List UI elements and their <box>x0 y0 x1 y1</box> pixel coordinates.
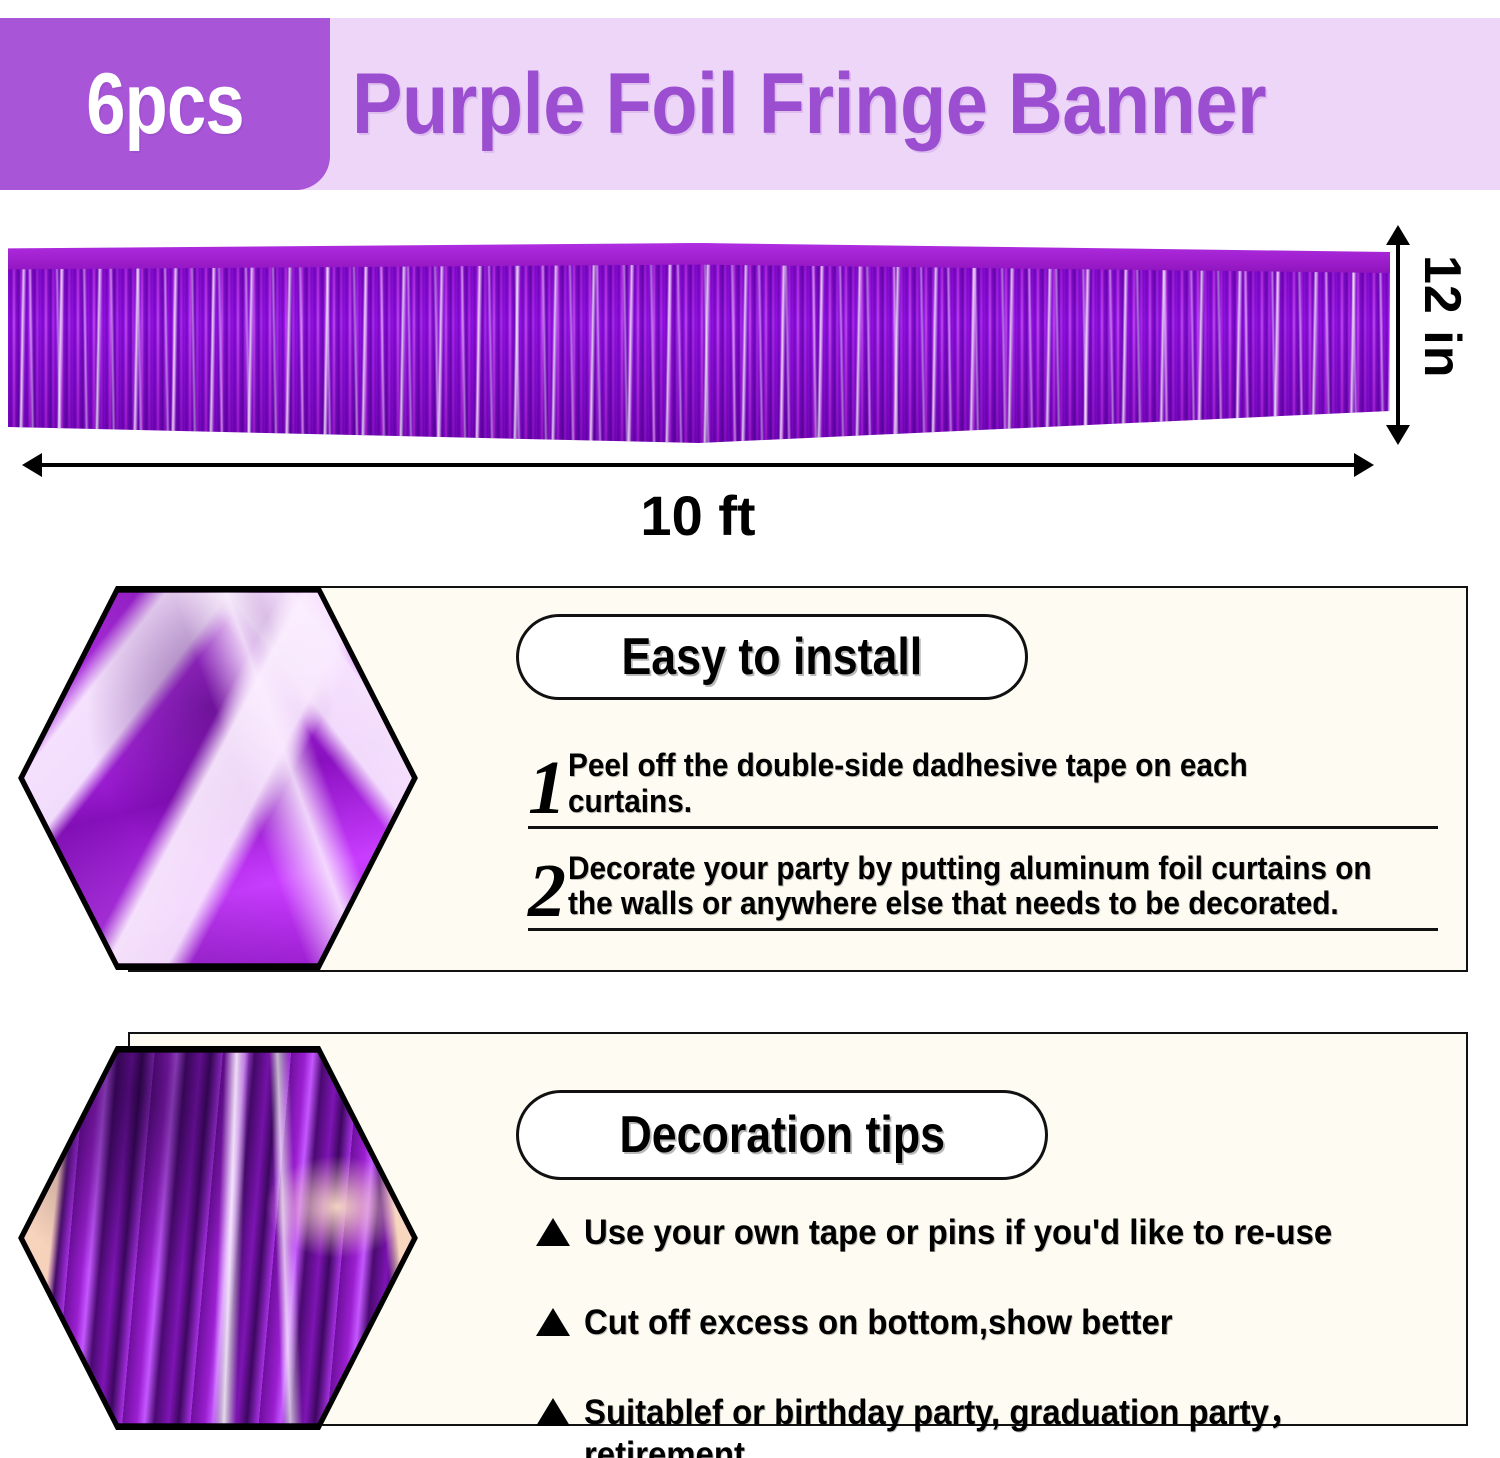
height-dimension-arrow <box>1396 225 1400 445</box>
install-step: 2 Decorate your party by putting aluminu… <box>528 851 1438 932</box>
install-heading-pill: Easy to install <box>516 614 1028 700</box>
list-item: Use your own tape or pins if you'd like … <box>536 1212 1446 1254</box>
width-dimension-arrow <box>22 463 1374 467</box>
tips-list: Use your own tape or pins if you'd like … <box>536 1212 1446 1458</box>
header-banner: 6pcs Purple Foil Fringe Banner <box>0 18 1500 190</box>
install-step: 1 Peel off the double-side dadhesive tap… <box>528 748 1438 829</box>
tip-text: Use your own tape or pins if you'd like … <box>584 1212 1332 1254</box>
triangle-bullet-icon <box>536 1308 570 1336</box>
quantity-badge: 6pcs <box>0 18 330 190</box>
tip-text: Cut off excess on bottom,show better <box>584 1302 1173 1344</box>
triangle-bullet-icon <box>536 1398 570 1426</box>
foil-shine-overlay <box>8 243 1390 443</box>
triangle-bullet-icon <box>536 1218 570 1246</box>
product-infographic: 6pcs Purple Foil Fringe Banner 12 in 10 … <box>0 0 1500 1458</box>
install-heading-label: Easy to install <box>622 627 923 687</box>
dimension-line <box>36 463 1360 467</box>
product-dimension-area: 12 in 10 ft <box>0 195 1500 560</box>
step-number: 1 <box>528 757 566 819</box>
arrow-down-icon <box>1386 425 1410 445</box>
step-number: 2 <box>528 860 566 922</box>
tips-heading-label: Decoration tips <box>619 1105 945 1165</box>
tips-heading-pill: Decoration tips <box>516 1090 1048 1180</box>
quantity-badge-label: 6pcs <box>86 61 243 147</box>
arrow-right-icon <box>1354 453 1374 477</box>
dimension-line <box>1396 239 1400 431</box>
page-title: Purple Foil Fringe Banner <box>352 18 1266 190</box>
height-dimension-label: 12 in <box>1412 255 1472 379</box>
tip-text: Suitablef or birthday party, graduation … <box>584 1392 1394 1458</box>
step-text: Decorate your party by putting aluminum … <box>568 851 1372 923</box>
list-item: Suitablef or birthday party, graduation … <box>536 1392 1446 1458</box>
product-photo <box>8 243 1390 443</box>
list-item: Cut off excess on bottom,show better <box>536 1302 1446 1344</box>
install-steps-list: 1 Peel off the double-side dadhesive tap… <box>528 748 1438 931</box>
width-dimension-label: 10 ft <box>0 483 1396 548</box>
step-text: Peel off the double-side dadhesive tape … <box>568 748 1377 820</box>
